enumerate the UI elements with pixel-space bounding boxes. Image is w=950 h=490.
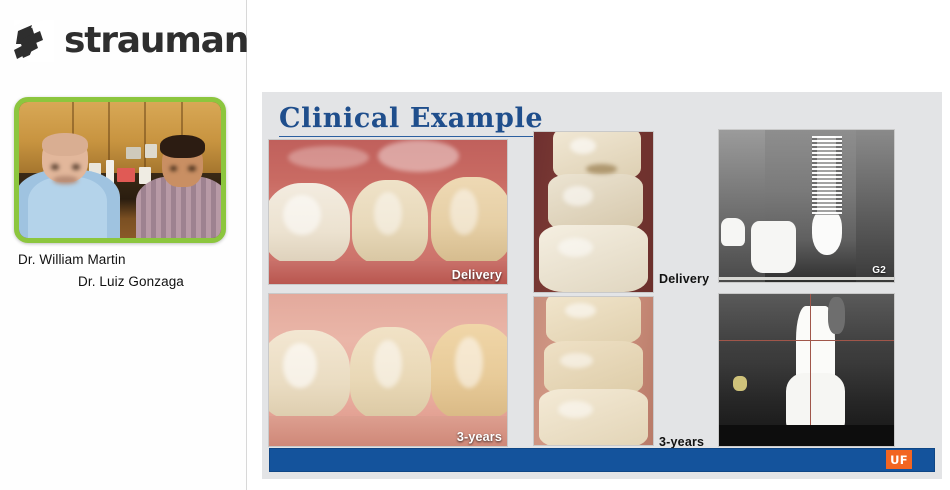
image-occlusal-3-years <box>534 297 653 445</box>
presenter-name-2: Dr. Luiz Gonzaga <box>78 274 247 289</box>
presenter-right <box>136 126 221 238</box>
straumann-s-mark-icon <box>14 20 54 62</box>
brand-wordmark: straumann <box>64 23 273 59</box>
image-occlusal-delivery <box>534 132 653 292</box>
brand-logo: straumann <box>14 20 273 62</box>
slide-stage: Clinical Example Delivery <box>247 0 950 490</box>
image-radiograph-delivery: G2 <box>719 130 894 282</box>
caption-cbct-3-years: 3-years <box>659 435 704 449</box>
presenter-left <box>19 121 120 238</box>
webcam-image <box>19 102 221 238</box>
uf-logo-text: UF <box>890 453 908 467</box>
caption-buccal-3-years: 3-years <box>457 430 502 444</box>
presenter-names: Dr. William Martin Dr. Luiz Gonzaga <box>0 252 247 289</box>
sidebar: straumann <box>0 0 247 490</box>
webinar-viewer: straumann <box>0 0 950 490</box>
webcam-feed[interactable] <box>14 97 226 243</box>
caption-buccal-delivery: Delivery <box>452 268 502 282</box>
image-cbct-3-years <box>719 294 894 446</box>
image-buccal-delivery: Delivery <box>269 140 507 284</box>
radiograph-marker-g2: G2 <box>872 265 886 276</box>
slide-footer-bar <box>269 448 935 472</box>
uf-logo: UF <box>886 450 912 469</box>
presentation-slide: Clinical Example Delivery <box>262 92 942 479</box>
image-buccal-3-years: 3-years <box>269 294 507 446</box>
presenter-name-1: Dr. William Martin <box>18 252 247 267</box>
slide-title: Clinical Example <box>279 103 543 134</box>
caption-radiograph-delivery: Delivery <box>659 272 709 286</box>
